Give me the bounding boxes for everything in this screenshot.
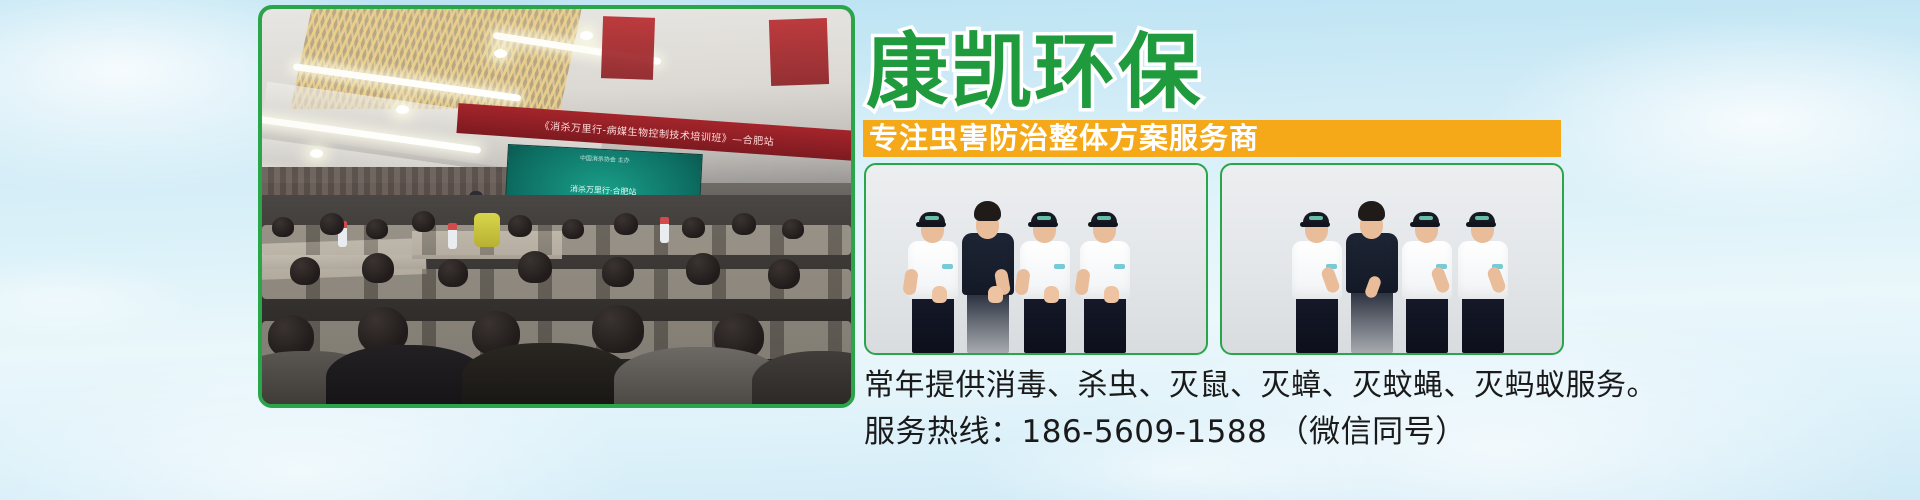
audience-head (438, 259, 468, 287)
audience-head (682, 217, 705, 238)
audience-head (686, 253, 720, 285)
company-title: 康凯环保 (866, 32, 1202, 114)
audience-head (272, 217, 294, 237)
conference-photo: 《消杀万里行-病媒生物控制技术培训班》—合肥站 中国消杀协会 主办 消杀万里行·… (258, 5, 855, 408)
water-bottle (448, 223, 457, 249)
audience-head (768, 259, 800, 289)
audience-head (362, 253, 394, 283)
conference-hall-scene: 《消杀万里行-病媒生物控制技术培训班》—合肥站 中国消杀协会 主办 消杀万里行·… (262, 9, 851, 404)
ceiling-spotlight (580, 31, 593, 40)
tagline-band: 专注虫害防治整体方案服务商 (863, 120, 1561, 157)
audience-head (592, 305, 644, 353)
audience-head (518, 251, 552, 283)
audience-head (732, 213, 756, 235)
team-photo-left (864, 163, 1208, 355)
ceiling-spotlight (396, 105, 409, 114)
team-photo-right (1220, 163, 1564, 355)
wall-banner-left (601, 16, 655, 80)
audience-torso (462, 343, 632, 404)
hotline-text: 服务热线：186-5609-1588 （微信同号） (864, 406, 1467, 451)
audience-head (562, 219, 584, 239)
audience-area (262, 195, 851, 404)
wall-banner-right (769, 18, 829, 86)
ceiling-spotlight (310, 149, 323, 158)
audience-head (782, 219, 804, 239)
ceiling-spotlight (494, 49, 507, 58)
chair-row (262, 225, 851, 255)
audience-head (290, 257, 320, 285)
safety-vest-person (474, 213, 500, 247)
audience-head (614, 213, 638, 235)
audience-head (320, 213, 344, 235)
audience-head (602, 257, 634, 287)
chair-row (262, 269, 851, 299)
brand-panel: 康凯环保 专注虫害防治整体方案服务商 (862, 0, 1920, 500)
water-bottle (660, 217, 669, 243)
tagline-text: 专注虫害防治整体方案服务商 (869, 124, 1259, 153)
audience-head (412, 211, 435, 232)
service-scope-text: 常年提供消毒、杀虫、灭鼠、灭蟑、灭蚊蝇、灭蚂蚁服务。 (864, 360, 1657, 404)
audience-head (508, 215, 532, 237)
screen-logos: 中国消杀协会 主办 (508, 151, 701, 169)
audience-head (366, 219, 388, 239)
team-photo-row (864, 163, 1564, 355)
